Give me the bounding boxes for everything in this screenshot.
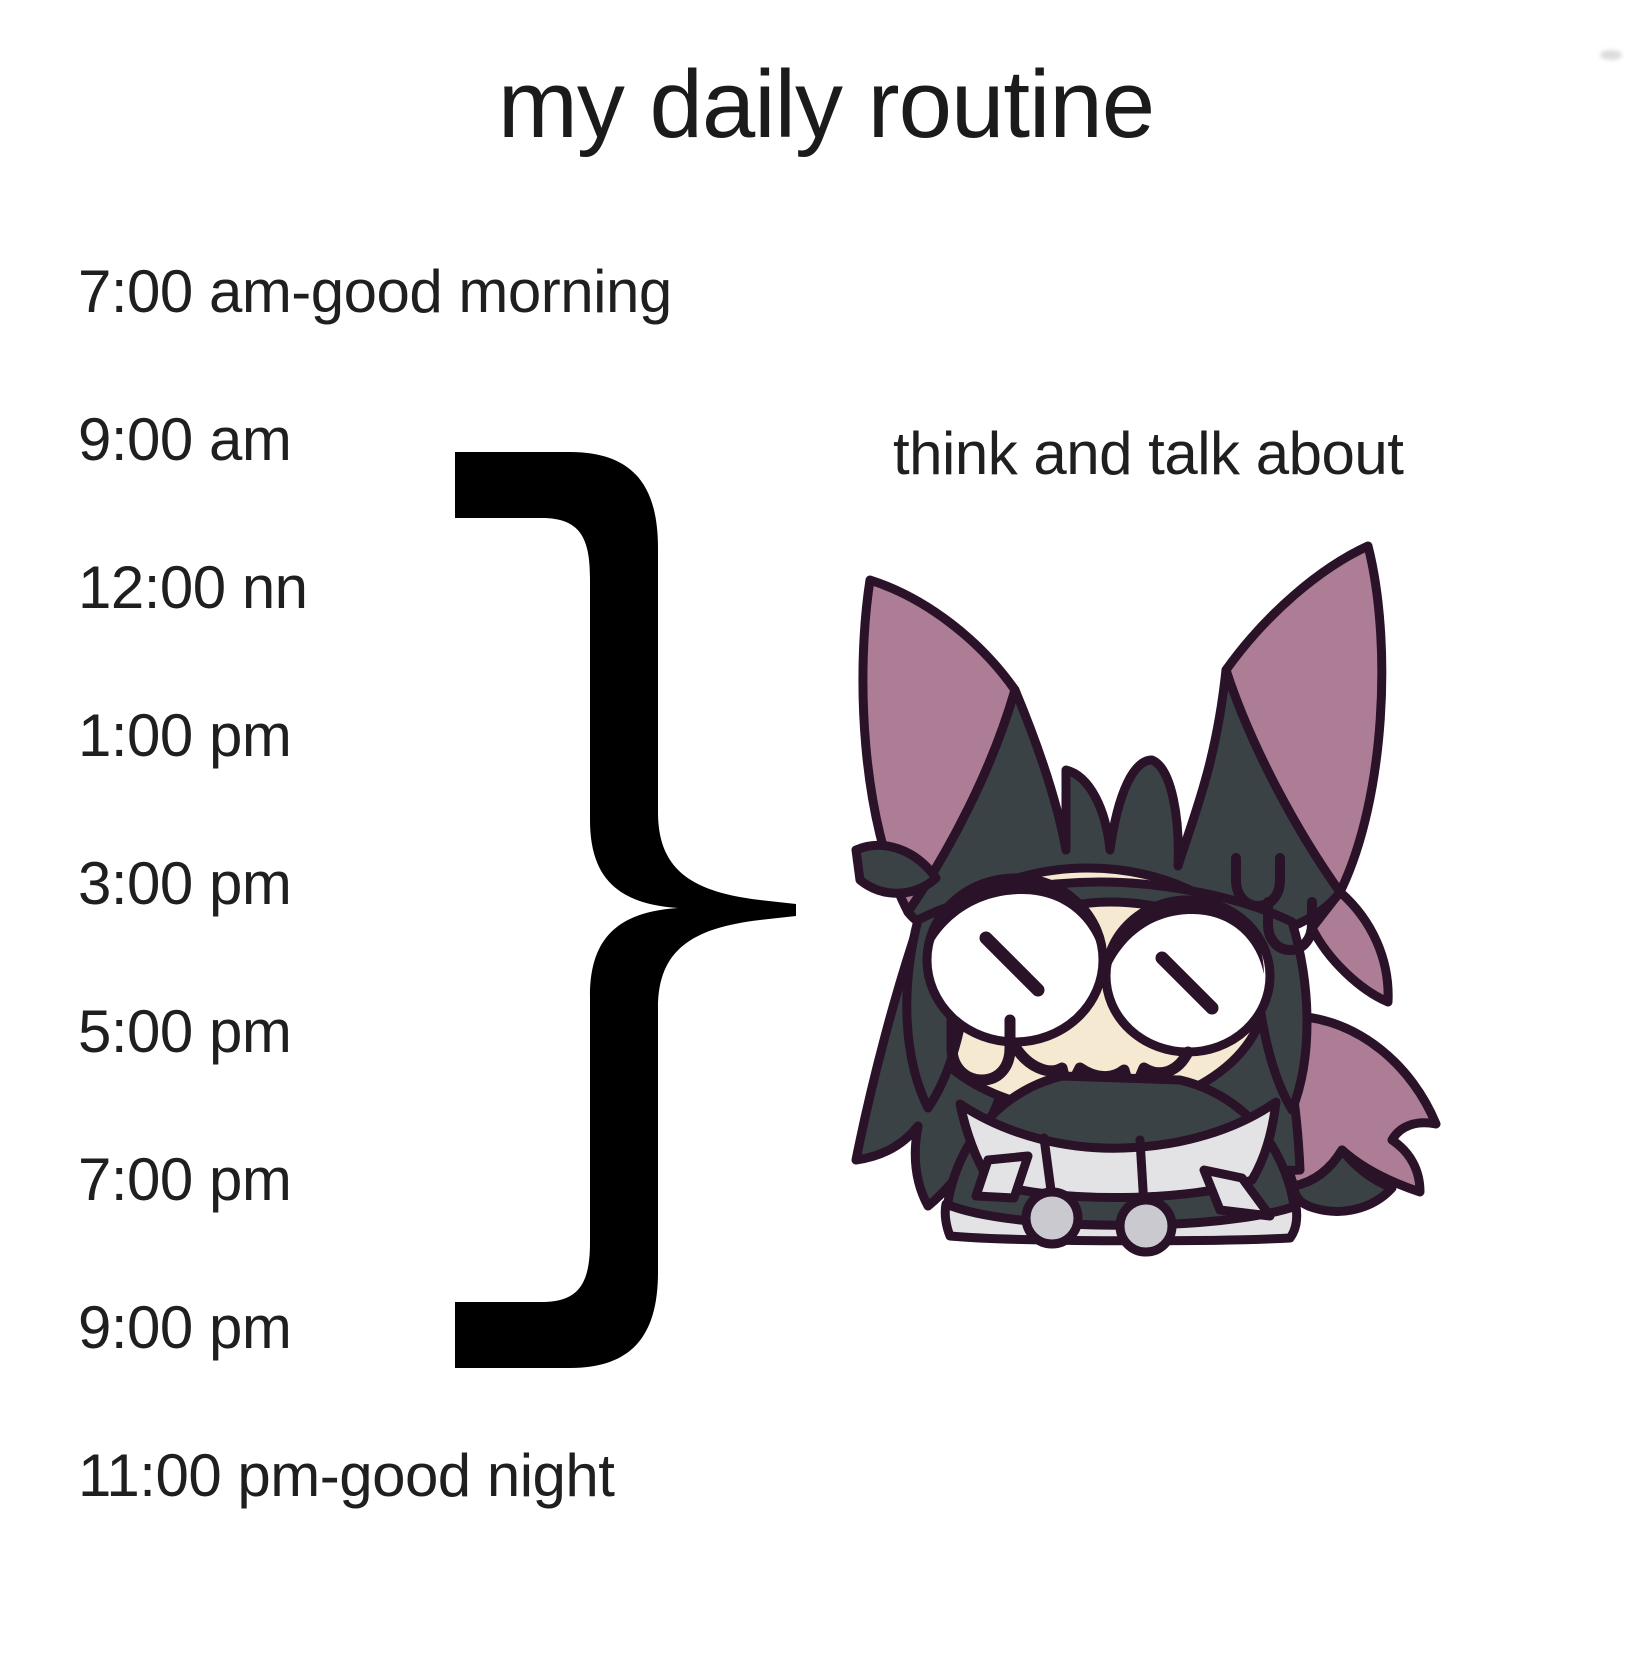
schedule-time: 1:00 pm	[78, 706, 291, 766]
schedule-time: 7:00 am	[78, 262, 291, 322]
schedule-time: 5:00 pm	[78, 1002, 291, 1062]
schedule-separator: -	[291, 262, 310, 322]
schedule-label: good morning	[311, 262, 672, 322]
hem-stripe-left	[976, 1156, 1028, 1198]
schedule-time: 11:00 pm	[78, 1446, 320, 1506]
meme-image: my daily routine 7:00 am - good morning …	[0, 0, 1652, 1660]
schedule-row: 11:00 pm - good night	[78, 1446, 938, 1594]
schedule-time: 12:00 nn	[78, 558, 308, 618]
schedule-row: 9:00 pm	[78, 1298, 938, 1446]
page-title: my daily routine	[0, 52, 1652, 158]
schedule-time: 9:00 pm	[78, 1298, 291, 1358]
schedule-time: 9:00 am	[78, 410, 291, 470]
drawstring-bead-right	[1120, 1200, 1172, 1252]
drawstring-bead-left	[1026, 1192, 1078, 1244]
schedule-time: 3:00 pm	[78, 854, 291, 914]
schedule-separator: -	[320, 1446, 339, 1506]
schedule-row: 7:00 am - good morning	[78, 262, 938, 410]
schedule-label: good night	[339, 1446, 614, 1506]
bat-character-illustration	[800, 520, 1480, 1240]
corner-artifact	[1600, 50, 1622, 60]
caption-text: think and talk about	[893, 424, 1403, 484]
schedule-time: 7:00 pm	[78, 1150, 291, 1210]
